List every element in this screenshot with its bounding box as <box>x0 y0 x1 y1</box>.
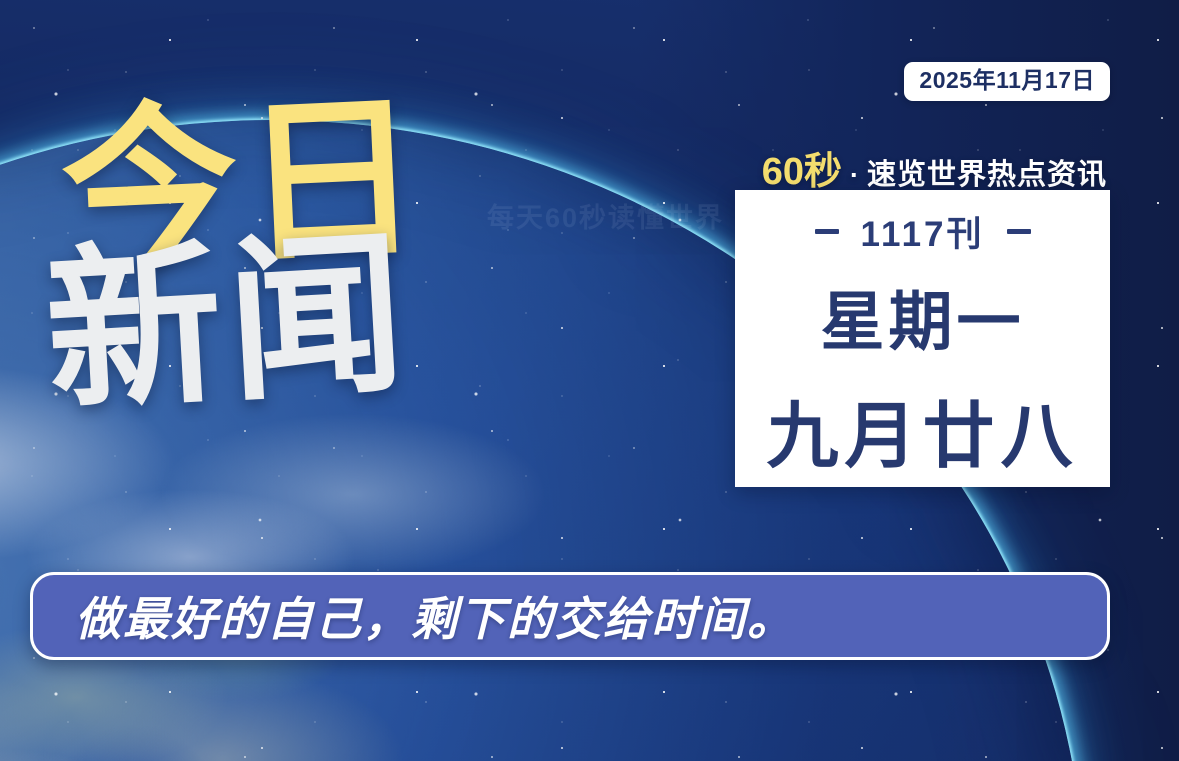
motto-text: 做最好的自己，剩下的交给时间。 <box>75 583 795 649</box>
lunar-date-label: 九月廿八 <box>766 377 1078 482</box>
date-badge: 2025年11月17日 <box>904 62 1110 101</box>
issue-row: 1117刊 <box>815 206 1031 257</box>
tagline-seconds: 60秒 <box>762 140 842 195</box>
brand-title: 今日 新闻 <box>48 98 478 409</box>
motto-banner: 做最好的自己，剩下的交给时间。 <box>30 572 1110 660</box>
tagline: 60秒 · 速览世界热点资讯 <box>762 140 1107 195</box>
weekday-label: 星期一 <box>821 271 1025 363</box>
date-info-card: 1117刊 星期一 九月廿八 <box>735 190 1110 487</box>
background-watermark: 每天60秒读懂世界 <box>487 196 724 235</box>
tagline-separator: · <box>848 160 861 191</box>
news-poster: 每天60秒读懂世界 今日 新闻 2025年11月17日 60秒 · 速览世界热点… <box>0 0 1179 761</box>
dash-left-icon <box>815 229 839 234</box>
brand-title-line-2: 新闻 <box>42 225 483 421</box>
issue-number: 1117刊 <box>861 206 985 257</box>
dash-right-icon <box>1007 229 1031 234</box>
tagline-text: 速览世界热点资讯 <box>867 151 1107 193</box>
